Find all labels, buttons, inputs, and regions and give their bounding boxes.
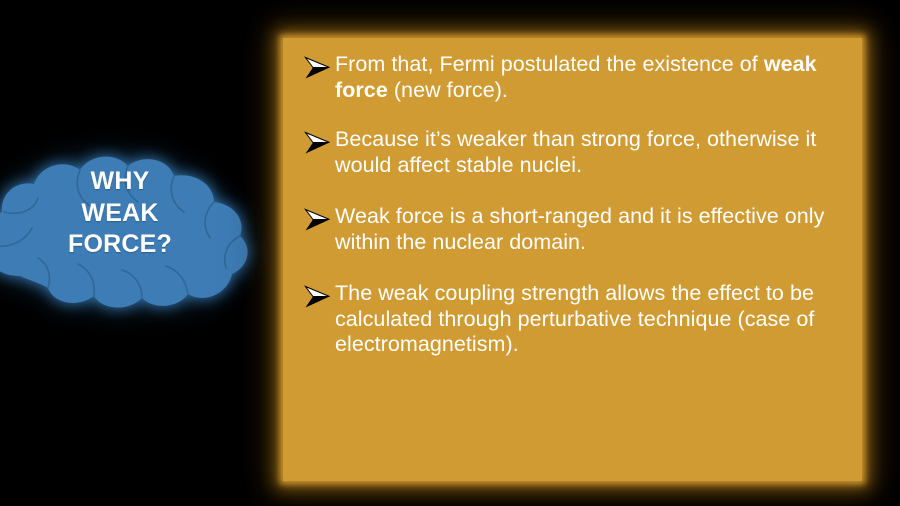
list-item: The weak coupling strength allows the ef… <box>301 281 852 358</box>
presentation-slide: WHY WEAK FORCE? From that, Fermi postula… <box>0 0 900 506</box>
arrowhead-bullet-icon <box>301 205 335 235</box>
arrowhead-bullet-icon <box>301 53 335 83</box>
list-item: From that, Fermi postulated the existenc… <box>301 52 852 103</box>
arrowhead-bullet-icon <box>301 282 335 312</box>
list-item-text: Weak force is a short-ranged and it is e… <box>335 204 852 255</box>
arrowhead-bullet-icon <box>301 128 335 158</box>
list-item: Because it’s weaker than strong force, o… <box>301 127 852 178</box>
list-item-text: Because it’s weaker than strong force, o… <box>335 127 852 178</box>
content-panel: From that, Fermi postulated the existenc… <box>283 38 862 481</box>
list-item-text: From that, Fermi postulated the existenc… <box>335 52 852 103</box>
text-run: (new force). <box>388 78 508 102</box>
list-item-text: The weak coupling strength allows the ef… <box>335 281 852 358</box>
cloud-callout-shape: WHY WEAK FORCE? <box>0 150 258 322</box>
list-item: Weak force is a short-ranged and it is e… <box>301 204 852 255</box>
cloud-body <box>0 150 258 322</box>
text-run: From that, Fermi postulated the existenc… <box>335 52 764 76</box>
